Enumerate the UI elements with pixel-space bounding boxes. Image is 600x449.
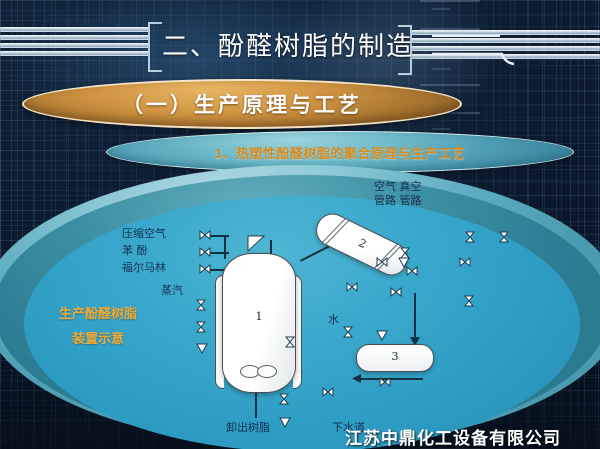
resin-discharge-label: 卸出树脂 — [226, 421, 270, 435]
valve-vertical-icon[interactable] — [197, 322, 205, 332]
equipment-reactor-vessel[interactable]: 1 — [222, 253, 296, 393]
decoration-bar — [0, 35, 150, 40]
valve-vertical-icon[interactable] — [344, 327, 352, 337]
diagram-caption-line2: 装置示意 — [33, 326, 163, 351]
valve-vertical-icon[interactable] — [286, 337, 294, 347]
valve-vertical-icon[interactable] — [401, 248, 409, 258]
valve-vertical-icon[interactable] — [197, 300, 205, 310]
valve-horizontal-icon[interactable] — [377, 258, 387, 266]
valve-vertical-icon[interactable] — [466, 232, 474, 242]
feed-label-phenol: 苯 酚 — [122, 244, 166, 261]
valve-vertical-icon[interactable] — [280, 394, 288, 404]
presentation-slide: 二、酚醛树脂的制造 （一）生产原理与工艺 1、热塑性酚醛树脂的聚合原理与生产工艺… — [0, 0, 600, 449]
pipe-riser-left — [224, 235, 226, 259]
decoration-bar — [0, 43, 150, 48]
feed-label-compressed-air: 压缩空气 — [122, 227, 166, 244]
valve-horizontal-icon[interactable] — [391, 288, 401, 296]
subsection-title-label: 1、热塑性酚醛树脂的聚合原理与生产工艺 — [215, 143, 466, 162]
equipment-tag-3: 3 — [357, 350, 433, 363]
air-vacuum-label-line2: 管路 管路 — [374, 194, 422, 208]
feed-labels: 压缩空气 苯 酚 福尔马林 — [122, 227, 166, 278]
water-label-upper: 水 — [328, 313, 339, 327]
equipment-receiver-tank[interactable]: 3 — [356, 344, 434, 372]
valve-horizontal-icon[interactable] — [323, 388, 333, 396]
valve-horizontal-icon[interactable] — [347, 283, 357, 291]
valve-horizontal-icon[interactable] — [380, 378, 390, 386]
diagram-caption: 生产酚醛树脂 装置示意 — [33, 301, 163, 351]
valve-horizontal-icon[interactable] — [200, 231, 210, 239]
valve-horizontal-icon[interactable] — [200, 265, 210, 273]
pipe-to-tank3 — [414, 293, 416, 341]
section-title-label: （一）生产原理与工艺 — [122, 89, 362, 119]
decoration-bar — [0, 27, 150, 32]
valve-horizontal-icon[interactable] — [200, 248, 210, 256]
bracket-left — [148, 22, 162, 72]
valve-triangle-icon[interactable] — [280, 418, 290, 427]
valve-triangle-icon[interactable] — [377, 331, 387, 340]
valve-triangle-icon[interactable] — [197, 344, 207, 353]
steam-label: 蒸汽 — [161, 282, 183, 298]
decoration-bars-left — [0, 27, 150, 56]
air-vacuum-label-line1: 空气 真空 — [374, 180, 422, 194]
pipe-resin-discharge — [255, 391, 257, 418]
valve-vertical-icon[interactable] — [500, 232, 508, 242]
valve-triangle-icon[interactable] — [399, 258, 409, 267]
valve-horizontal-icon[interactable] — [407, 267, 417, 275]
page-title: 二、酚醛树脂的制造 — [162, 20, 462, 68]
section-title-banner: （一）生产原理与工艺 — [22, 79, 462, 129]
feed-label-formalin: 福尔马林 — [122, 261, 166, 278]
diagram-caption-line1: 生产酚醛树脂 — [33, 301, 163, 326]
decoration-bar — [0, 51, 150, 56]
company-footer: 江苏中鼎化工设备有限公司 — [345, 424, 561, 449]
vessel-bottom-nozzle-right — [257, 365, 277, 378]
valve-horizontal-icon[interactable] — [460, 258, 470, 266]
arrow-left-icon — [352, 374, 362, 383]
valve-vertical-icon[interactable] — [465, 296, 473, 306]
equipment-tag-1: 1 — [223, 310, 295, 323]
triangle-marker-icon — [248, 236, 265, 252]
air-vacuum-line-label: 空气 真空 管路 管路 — [374, 180, 422, 208]
